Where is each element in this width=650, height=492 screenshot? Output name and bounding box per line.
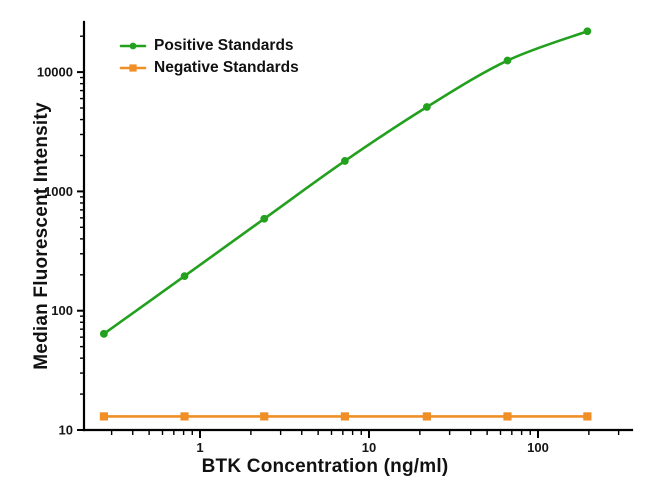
- legend-marker-circle-icon: [130, 43, 137, 50]
- tick-marks-group: [77, 36, 619, 438]
- legend-marker-square-icon: [129, 64, 136, 71]
- x-tick-label: 100: [527, 440, 549, 455]
- x-tick-label: 10: [362, 440, 376, 455]
- data-point-marker: [504, 413, 511, 420]
- data-point-marker: [423, 104, 430, 111]
- legend-label: Negative Standards: [154, 59, 299, 76]
- data-series-group: [100, 28, 591, 420]
- x-tick-label: 1: [196, 440, 203, 455]
- data-point-marker: [100, 413, 107, 420]
- y-tick-label: 10: [59, 423, 73, 438]
- y-tick-label: 10000: [37, 65, 73, 80]
- y-axis-title: Median Fluorescent Intensity: [31, 86, 53, 386]
- data-point-marker: [584, 28, 591, 35]
- legend-label: Positive Standards: [154, 37, 294, 54]
- data-point-marker: [181, 413, 188, 420]
- axes-group: [84, 22, 632, 430]
- plot-area: 10100100010000 110100 Positive Standards…: [0, 0, 650, 492]
- series-negative-standards: [100, 413, 591, 420]
- data-point-marker: [261, 215, 268, 222]
- data-point-marker: [504, 57, 511, 64]
- legend-item[interactable]: Positive Standards: [121, 37, 294, 54]
- data-point-marker: [584, 413, 591, 420]
- chart-container: 10100100010000 110100 Positive Standards…: [0, 0, 650, 492]
- data-point-marker: [261, 413, 268, 420]
- data-point-marker: [101, 330, 108, 337]
- x-tick-labels: 110100: [196, 440, 548, 455]
- data-point-marker: [181, 273, 188, 280]
- data-point-marker: [423, 413, 430, 420]
- series-line: [104, 31, 587, 334]
- data-point-marker: [341, 413, 348, 420]
- y-tick-label: 100: [51, 303, 73, 318]
- x-axis-title: BTK Concentration (ng/ml): [0, 456, 650, 478]
- legend: Positive StandardsNegative Standards: [121, 37, 299, 76]
- data-point-marker: [341, 158, 348, 165]
- legend-item[interactable]: Negative Standards: [121, 59, 299, 76]
